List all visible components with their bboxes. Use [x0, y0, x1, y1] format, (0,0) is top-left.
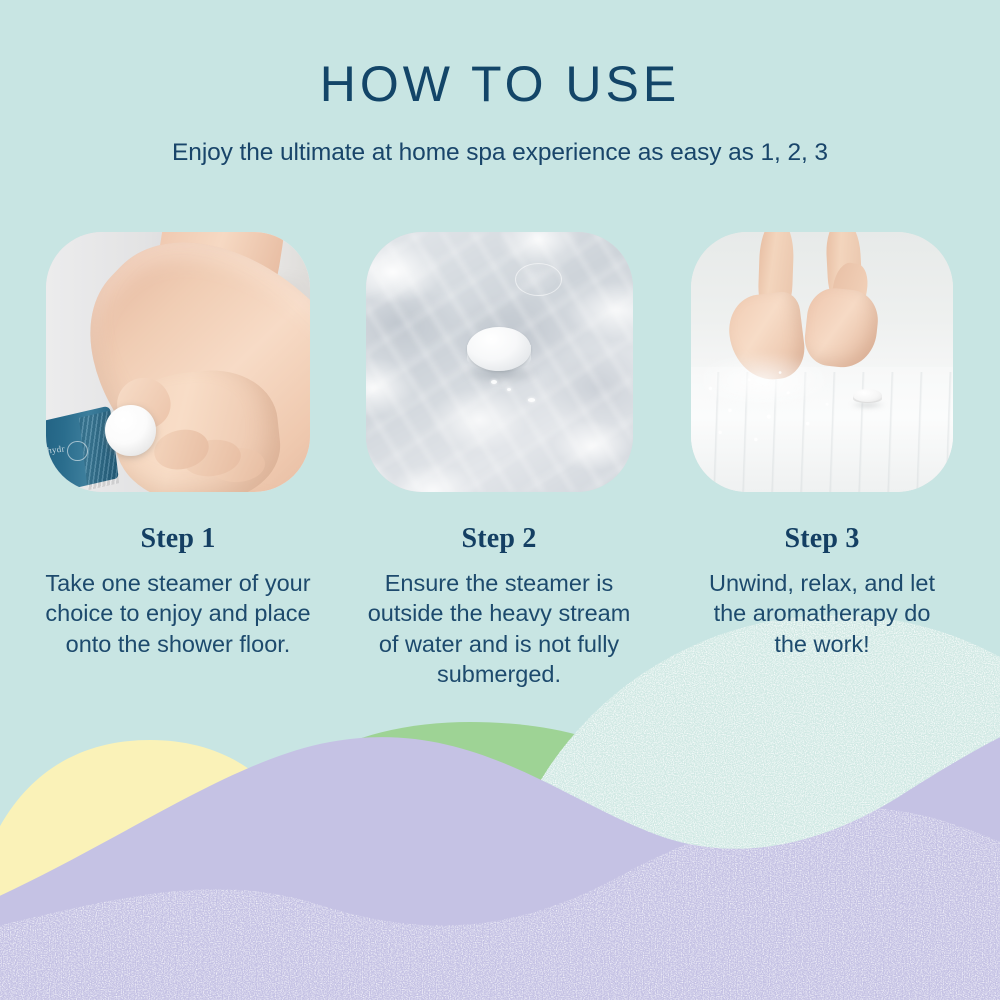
page-subtitle: Enjoy the ultimate at home spa experienc… [0, 112, 1000, 167]
hill-lavender-speckled [0, 807, 1000, 1000]
wave-lavender [0, 728, 1000, 1000]
header: HOW TO USE Enjoy the ultimate at home sp… [0, 0, 1000, 167]
step-card-2: Step 2 Ensure the steamer is outside the… [344, 232, 655, 689]
step-card-3: Step 3 Unwind, relax, and let the aromat… [667, 232, 978, 659]
step-3-photo [691, 232, 953, 492]
steamer-puck [467, 327, 531, 371]
step-2-label: Step 2 [461, 492, 536, 555]
steps-row: hydr Step 1 Take one steamer of your cho… [0, 232, 1000, 689]
step-2-photo [366, 232, 633, 492]
step-1-photo: hydr [46, 232, 310, 492]
step-1-body: Take one steamer of your choice to enjoy… [35, 555, 321, 659]
step-2-body: Ensure the steamer is outside the heavy … [356, 555, 642, 689]
steamer-tablet [105, 405, 155, 456]
step-1-label: Step 1 [140, 492, 215, 555]
hill-yellow [0, 740, 340, 1000]
page-title: HOW TO USE [0, 0, 1000, 112]
step-3-body: Unwind, relax, and let the aromatherapy … [706, 555, 938, 659]
how-to-use-poster: HOW TO USE Enjoy the ultimate at home sp… [0, 0, 1000, 1000]
water-splash-droplets [691, 362, 853, 450]
hill-green [190, 722, 760, 1000]
step-card-1: hydr Step 1 Take one steamer of your cho… [23, 232, 334, 659]
step-3-label: Step 3 [784, 492, 859, 555]
water-droplet-3 [528, 398, 535, 401]
